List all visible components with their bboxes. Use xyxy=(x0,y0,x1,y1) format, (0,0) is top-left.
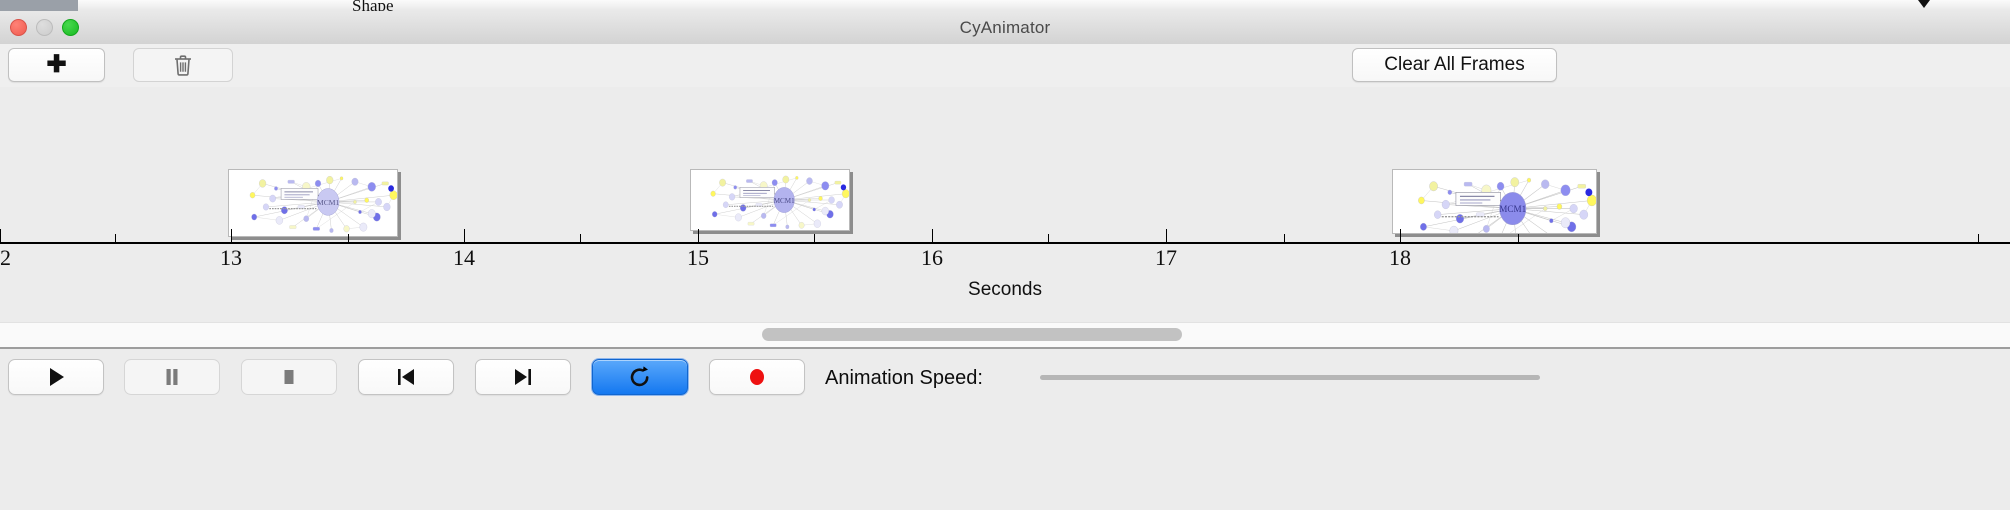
timeline-tick xyxy=(1048,234,1049,242)
timeline-tick-label: 15 xyxy=(687,245,709,271)
skip-to-start-button[interactable] xyxy=(358,359,454,395)
timeline-axis-title: Seconds xyxy=(0,279,2010,301)
animation-speed-slider[interactable] xyxy=(1040,375,1540,380)
timeline-tick xyxy=(814,234,815,242)
background-window-cell xyxy=(188,0,307,11)
timeline-tick xyxy=(698,229,699,242)
timeline-tick-label: 16 xyxy=(921,245,943,271)
toolbar: ✚ Clear All Frames xyxy=(0,44,2010,88)
background-window-cell xyxy=(466,0,497,11)
svg-text:MCM1: MCM1 xyxy=(317,198,339,207)
background-window-cell xyxy=(496,0,609,11)
title-bar: CyAnimator xyxy=(0,11,2010,45)
frame-thumbnail-1[interactable]: MCM1 xyxy=(228,169,398,237)
skip-forward-icon xyxy=(511,366,535,388)
timeline-tick xyxy=(580,234,581,242)
clear-all-frames-button[interactable]: Clear All Frames xyxy=(1352,48,1557,82)
trash-icon xyxy=(173,54,193,76)
add-frame-button[interactable]: ✚ xyxy=(8,48,105,82)
timeline-scrollbar[interactable] xyxy=(0,322,2010,348)
background-window-strip: Shape xyxy=(0,0,2010,11)
frame-thumbnail-2[interactable]: MCM1 xyxy=(690,169,850,231)
svg-text:MCM1: MCM1 xyxy=(774,197,795,205)
timeline-tick xyxy=(348,234,349,242)
frame-thumbnail-3[interactable]: MCM1 xyxy=(1392,169,1597,234)
timeline-tick xyxy=(1978,234,1979,242)
background-window-cell xyxy=(78,0,189,11)
network-graph: MCM1 xyxy=(691,170,849,231)
cyanimator-window: Shape CyAnimator ✚ Clear All Frames xyxy=(0,0,2010,510)
pause-icon xyxy=(161,366,183,388)
play-button[interactable] xyxy=(8,359,104,395)
timeline-tick xyxy=(464,229,465,242)
play-icon xyxy=(45,366,67,388)
loop-button[interactable] xyxy=(592,359,688,395)
stop-button[interactable] xyxy=(241,359,337,395)
background-window-cell xyxy=(608,0,795,11)
background-window-sidebar xyxy=(0,0,78,11)
background-window-label: Shape xyxy=(352,0,394,11)
loop-icon xyxy=(628,365,652,389)
timeline-tick xyxy=(1284,234,1285,242)
timeline-tick-label: 13 xyxy=(220,245,242,271)
timeline-scrollbar-thumb[interactable] xyxy=(762,328,1182,341)
timeline-ruler-line xyxy=(0,242,2010,244)
timeline-tick xyxy=(0,229,1,242)
timeline-tick xyxy=(231,229,232,242)
background-window-cell xyxy=(794,0,1917,11)
timeline-tick xyxy=(1166,229,1167,242)
svg-text:MCM1: MCM1 xyxy=(1499,204,1526,214)
window-title: CyAnimator xyxy=(0,11,2010,44)
timeline-tick-label: 18 xyxy=(1389,245,1411,271)
timeline-tick xyxy=(115,234,116,242)
delete-frame-button[interactable] xyxy=(133,48,233,82)
network-graph: MCM1 xyxy=(1393,170,1596,234)
background-window-caret-icon xyxy=(1918,0,1930,8)
pause-button[interactable] xyxy=(124,359,220,395)
animation-speed-label: Animation Speed: xyxy=(825,367,983,390)
timeline-tick-label: 17 xyxy=(1155,245,1177,271)
timeline-panel[interactable]: MCM1 MCM1 MCM1 12131415161718 Seconds xyxy=(0,87,2010,322)
timeline-tick xyxy=(1518,234,1519,242)
background-window-cell xyxy=(1960,0,2010,11)
playback-control-bar: Animation Speed: xyxy=(0,347,2010,510)
skip-back-icon xyxy=(394,366,418,388)
skip-to-end-button[interactable] xyxy=(475,359,571,395)
stop-icon xyxy=(278,366,300,388)
plus-icon: ✚ xyxy=(46,53,66,77)
timeline-tick xyxy=(1400,229,1401,242)
record-button[interactable] xyxy=(709,359,805,395)
background-window-cell xyxy=(306,0,355,11)
timeline-tick-label: 12 xyxy=(0,245,11,271)
network-graph: MCM1 xyxy=(229,170,397,237)
record-icon xyxy=(745,365,769,389)
timeline-tick-label: 14 xyxy=(453,245,475,271)
timeline-tick xyxy=(932,229,933,242)
